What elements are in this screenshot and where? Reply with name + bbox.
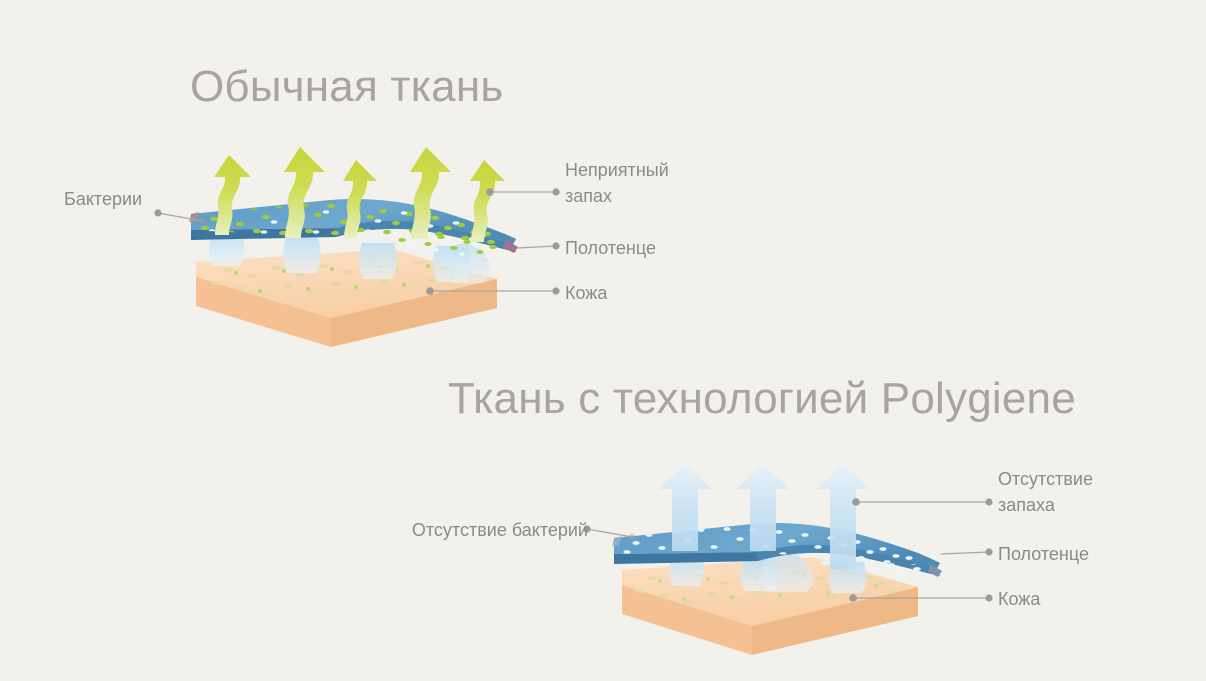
label-unpleasant-odor: Неприятный запах (565, 157, 669, 209)
section-title-polygiene-fabric: Ткань с технологией Polygiene (448, 374, 1076, 424)
label-skin-polygiene: Кожа (998, 586, 1040, 612)
polygiene-fabric-illustration (0, 0, 1206, 681)
infographic-canvas: Обычная ткань Ткань с технологией Polygi… (0, 0, 1206, 681)
label-towel-polygiene: Полотенце (998, 541, 1089, 567)
label-no-bacteria: Отсутствие бактерий (412, 517, 588, 543)
section-title-ordinary-fabric: Обычная ткань (190, 62, 503, 112)
label-towel-ordinary: Полотенце (565, 235, 656, 261)
label-no-odor: Отсутствие запаха (998, 466, 1093, 518)
label-skin-ordinary: Кожа (565, 280, 607, 306)
label-bacteria: Бактерии (64, 186, 142, 212)
